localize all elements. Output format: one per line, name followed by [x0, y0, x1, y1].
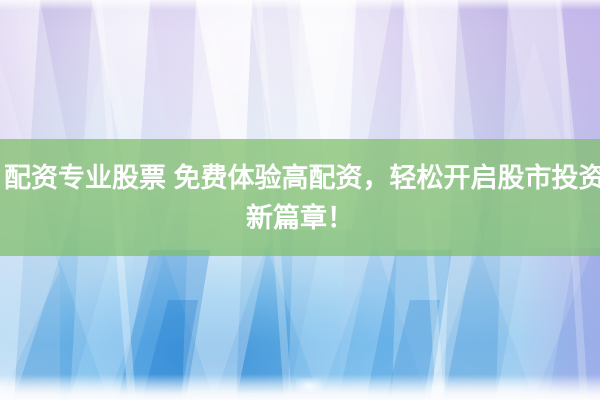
top-haze-overlay — [0, 0, 600, 10]
headline-line-1: 配资专业股票 免费体验高配资，轻松开启股市投资 — [0, 158, 600, 198]
headline-line-2: 新篇章！ — [0, 198, 600, 238]
watermark-smudge — [296, 378, 322, 392]
promo-banner: 配资专业股票 免费体验高配资，轻松开启股市投资 新篇章！ — [0, 0, 600, 400]
caption-band: 配资专业股票 免费体验高配资，轻松开启股市投资 新篇章！ — [0, 139, 600, 256]
